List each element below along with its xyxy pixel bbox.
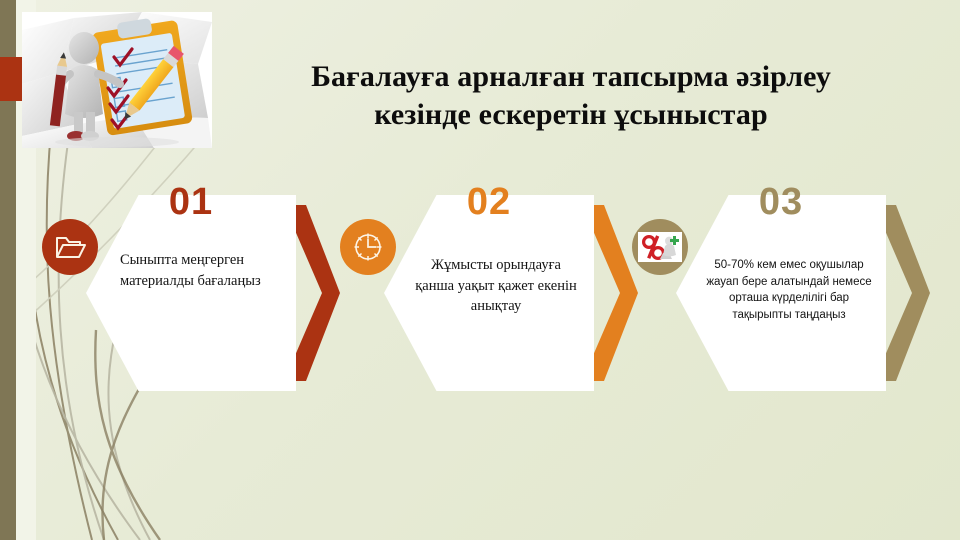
step-card-1-hexagon [86, 195, 296, 391]
step-card-3[interactable]: 03 [676, 195, 886, 391]
step-card-1[interactable]: 01 Сыныпта меңгерген материалды бағалаңы… [86, 195, 296, 391]
step-number-2: 02 [384, 183, 594, 221]
percent-chart-icon [632, 219, 688, 275]
step-text-3: 50-70% кем емес оқушылар жауап бере алат… [702, 257, 876, 324]
folder-icon [42, 219, 98, 275]
step-card-2[interactable]: 02 Жұмысты оры [384, 195, 594, 391]
step-text-2: Жұмысты орындауға қанша уақыт қажет екен… [410, 255, 582, 317]
step-number-1: 01 [86, 183, 296, 221]
clock-icon [340, 219, 396, 275]
slide-canvas: Бағалауға арналған тапсырма әзірлеу кезі… [0, 0, 960, 540]
step-number-3: 03 [676, 183, 886, 221]
steps-container: 01 Сыныпта меңгерген материалды бағалаңы… [0, 0, 960, 540]
step-text-1: Сыныпта меңгерген материалды бағалаңыз [120, 250, 290, 291]
